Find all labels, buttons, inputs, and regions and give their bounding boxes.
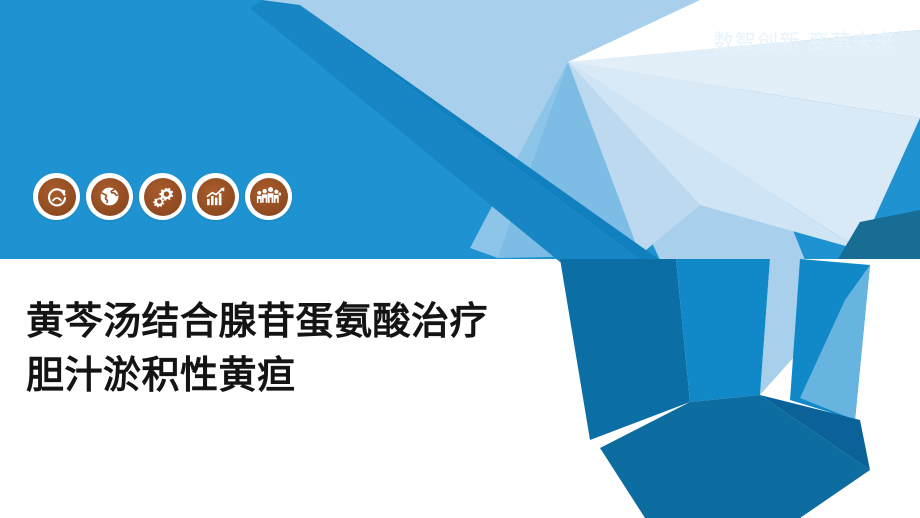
page-title: 黄芩汤结合腺苷蛋氨酸治疗 胆汁淤积性黄疸 <box>26 296 488 404</box>
polygonal-background <box>0 0 920 518</box>
title-slide: 数智创新 变革未来 <box>0 0 920 518</box>
icon-badge-globe[interactable] <box>86 173 133 220</box>
refresh-cycle-icon <box>38 178 76 216</box>
page-title-line-1: 黄芩汤结合腺苷蛋氨酸治疗 <box>26 296 488 350</box>
icon-badge-gears[interactable] <box>139 173 186 220</box>
icon-badge-people-group[interactable] <box>245 173 292 220</box>
bar-chart-growth-icon <box>197 178 235 216</box>
page-title-line-2: 胆汁淤积性黄疸 <box>26 350 488 404</box>
header-tagline: 数智创新 变革未来 <box>713 26 896 56</box>
gears-icon <box>144 178 182 216</box>
icon-badge-refresh-cycle[interactable] <box>33 173 80 220</box>
globe-icon <box>91 178 129 216</box>
icon-badge-row <box>33 173 292 220</box>
facet-lower-mid-left <box>676 259 770 402</box>
people-group-icon <box>250 178 288 216</box>
icon-badge-bar-chart-growth[interactable] <box>192 173 239 220</box>
